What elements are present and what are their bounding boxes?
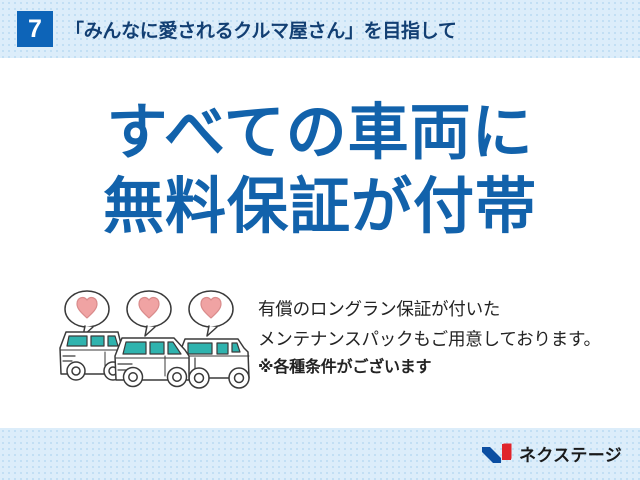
illustration-svg (52, 286, 257, 396)
headline: すべての車両に 無料保証が付帯 (0, 95, 640, 244)
speech-bubble-2 (127, 291, 171, 336)
promo-banner: 7 「みんなに愛されるクルマ屋さん」を目指して すべての車両に 無料保証が付帯 (0, 0, 640, 480)
brand-logo: ネクステージ (481, 441, 622, 466)
header: 7 「みんなに愛されるクルマ屋さん」を目指して (0, 0, 640, 58)
page-title: 「みんなに愛されるクルマ屋さん」を目指して (65, 16, 457, 43)
content-row: 有償のロングラン保証が付いた メンテナンスパックもご用意しております。 ※各種条… (0, 286, 640, 406)
speech-bubble-1 (65, 291, 109, 336)
nexstage-n-mark-icon (481, 443, 512, 464)
step-number-badge: 7 (17, 11, 53, 47)
headline-line-2: 無料保証が付帯 (0, 169, 640, 243)
vehicle-minivan (115, 338, 189, 387)
cars-with-hearts-illustration (52, 286, 257, 396)
vehicle-suv (180, 339, 249, 388)
copy-line-1: 有償のロングラン保証が付いた (258, 294, 636, 324)
vehicle-kei-van (60, 332, 122, 380)
brand-name: ネクステージ (519, 441, 622, 466)
headline-line-1: すべての車両に (0, 95, 640, 169)
copy-note: ※各種条件がございます (258, 354, 636, 381)
copy-line-2: メンテナンスパックもご用意しております。 (258, 324, 636, 354)
speech-bubble-3 (189, 291, 233, 336)
supporting-copy: 有償のロングラン保証が付いた メンテナンスパックもご用意しております。 ※各種条… (258, 294, 636, 381)
